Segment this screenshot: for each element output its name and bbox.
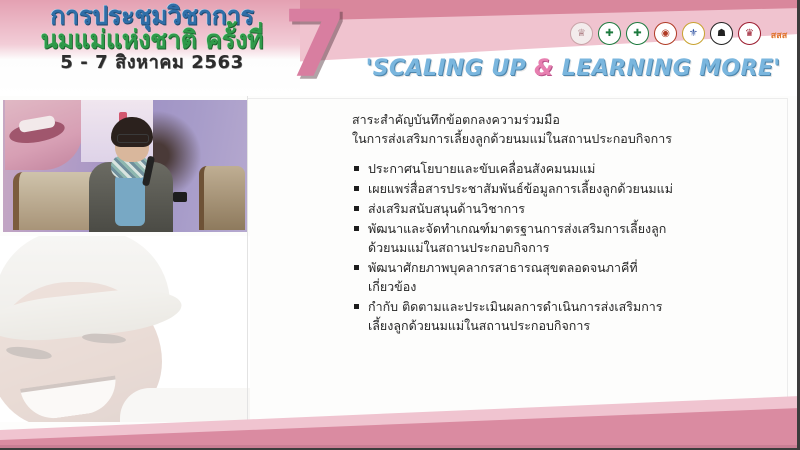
stage-chair-right	[199, 166, 245, 230]
bullet-square-icon	[354, 166, 359, 171]
slide-body: สาระสำคัญบันทึกข้อตกลงความร่วมมือ ในการส…	[352, 110, 772, 336]
bullet-square-icon	[354, 186, 359, 191]
watermark-overlay	[0, 236, 250, 422]
tagline-prefix: 'SCALING UP	[366, 56, 535, 81]
speaker-remote	[173, 192, 187, 202]
list-item: พัฒนาศักยภาพบุคลากรสาธารณสุขตลอดจนภาคีที…	[352, 258, 772, 296]
list-item: ประกาศนโยบายและขับเคลื่อนสังคมนมแม่	[352, 159, 772, 178]
logo-glyph: ◉	[661, 28, 670, 39]
bullet-square-icon	[354, 304, 359, 309]
speaker-shirt	[115, 174, 145, 226]
tagline-suffix: LEARNING MORE'	[554, 56, 781, 81]
bullet-text-line1: พัฒนาศักยภาพบุคลากรสาธารณสุขตลอดจนภาคีที…	[368, 260, 638, 275]
logo-university-icon: ♛	[738, 22, 761, 45]
presentation-slide: การประชุมวิชาการ นมแม่แห่งชาติ ครั้งที่ …	[0, 0, 800, 450]
logo-labour-ministry-icon: ◉	[654, 22, 677, 45]
bullet-square-icon	[354, 226, 359, 231]
logo-glyph: ☗	[717, 28, 726, 39]
bullet-text-line2: เกี่ยวข้อง	[368, 277, 772, 296]
edition-number: 7	[283, 2, 347, 88]
list-item: ส่งเสริมสนับสนุนด้านวิชาการ	[352, 199, 772, 218]
bullet-text-line1: กำกับ ติดตามและประเมินผลการดำเนินการส่งเ…	[368, 299, 663, 314]
conference-date: 5 - 7 สิงหาคม 2563	[16, 54, 288, 73]
logo-royal-emblem-icon: ♕	[570, 22, 593, 45]
logo-garuda-emblem-icon: ⚜	[682, 22, 705, 45]
list-item: กำกับ ติดตามและประเมินผลการดำเนินการส่งเ…	[352, 297, 772, 335]
slide-header: การประชุมวิชาการ นมแม่แห่งชาติ ครั้งที่ …	[0, 0, 800, 96]
logo-unicef-icon: ☗	[710, 22, 733, 45]
speaker-video-still	[3, 100, 247, 232]
logo-glyph: ⚜	[689, 28, 698, 39]
content-right-rule	[787, 98, 788, 418]
bullet-list: ประกาศนโยบายและขับเคลื่อนสังคมนมแม่ เผยแ…	[352, 159, 772, 335]
column-divider	[247, 96, 248, 422]
logo-glyph: สสส	[771, 28, 787, 42]
logo-glyph: ♛	[745, 28, 754, 39]
bullet-text-line1: ส่งเสริมสนับสนุนด้านวิชาการ	[368, 201, 525, 216]
child-watermark-photo	[0, 236, 250, 422]
bullet-square-icon	[354, 206, 359, 211]
logo-health-dept-icon: ✚	[626, 22, 649, 45]
logo-ministry-health-icon: ✚	[598, 22, 621, 45]
body-heading-line1: สาระสำคัญบันทึกข้อตกลงความร่วมมือ	[352, 110, 772, 129]
sponsor-logo-row: ♕ ✚ ✚ ◉ ⚜ ☗ ♛ สสส	[570, 22, 792, 45]
bullet-text-line2: เลี้ยงลูกด้วยนมแม่ในสถานประกอบกิจการ	[368, 316, 772, 335]
conference-title-line2: นมแม่แห่งชาติ ครั้งที่	[16, 27, 288, 53]
footer-edge	[0, 445, 800, 448]
logo-glyph: ✚	[633, 28, 641, 39]
bullet-square-icon	[354, 265, 359, 270]
tagline-ampersand: &	[534, 56, 554, 81]
bullet-text-line1: เผยแพร่สื่อสารประชาสัมพันธ์ข้อมูลการเลี้…	[368, 181, 673, 196]
bullet-text-line2: ด้วยนมแม่ในสถานประกอบกิจการ	[368, 238, 772, 257]
content-top-rule	[248, 98, 788, 99]
conference-title: การประชุมวิชาการ นมแม่แห่งชาติ ครั้งที่ …	[16, 3, 288, 73]
bullet-text-line1: ประกาศนโยบายและขับเคลื่อนสังคมนมแม่	[368, 161, 595, 176]
body-heading-line2: ในการส่งเสริมการเลี้ยงลูกด้วยนมแม่ในสถาน…	[352, 129, 772, 148]
speaker-glasses	[117, 134, 149, 143]
slide-footer-band	[0, 396, 800, 448]
logo-thaihealth-icon: สสส	[766, 24, 792, 45]
conference-tagline: 'SCALING UP & LEARNING MORE'	[358, 56, 788, 81]
list-item: พัฒนาและจัดทำเกณฑ์มาตรฐานการส่งเสริมการเ…	[352, 219, 772, 257]
bullet-text-line1: พัฒนาและจัดทำเกณฑ์มาตรฐานการส่งเสริมการเ…	[368, 221, 666, 236]
logo-glyph: ✚	[605, 28, 613, 39]
logo-glyph: ♕	[577, 28, 586, 39]
list-item: เผยแพร่สื่อสารประชาสัมพันธ์ข้อมูลการเลี้…	[352, 179, 772, 198]
